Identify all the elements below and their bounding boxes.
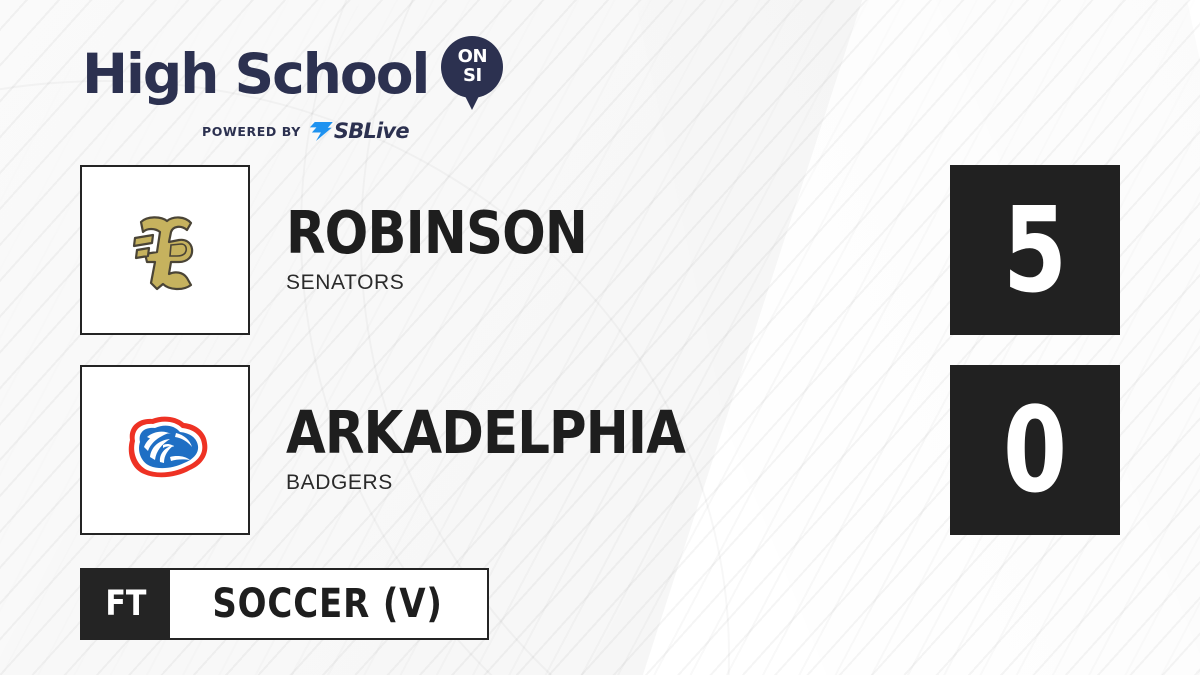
scoreboard-graphic: High School ON SI POWERED BY SBLive [0,0,1200,675]
team-info: ARKADELPHIA BADGERS [286,405,745,495]
team-row: ARKADELPHIA BADGERS [80,365,745,535]
sblive-lower: ive [376,119,409,143]
sport-label: SOCCER (V) [212,581,442,627]
team-mascot: SENATORS [286,271,632,295]
brand-wordmark: High School [82,47,428,102]
pin-label-on: ON [458,49,487,66]
brand-logo-row: High School ON SI [82,36,503,112]
team-score: 0 [1003,391,1067,509]
team-info: ROBINSON SENATORS [286,205,632,295]
pin-label-si: SI [463,68,482,85]
team-score-box: 0 [950,365,1120,535]
team-name: ROBINSON [286,205,587,260]
team-row: ROBINSON SENATORS [80,165,632,335]
team-score-box: 5 [950,165,1120,335]
team-logo-card [80,165,250,335]
brand-header: High School ON SI POWERED BY SBLive [82,36,503,143]
status-code-badge: FT [82,570,170,638]
status-code-label: FT [105,584,146,624]
arkadelphia-badger-head-logo-icon [100,385,230,515]
robinson-blackletter-r-logo-icon [105,190,225,310]
powered-by-row: POWERED BY SBLive [202,119,503,143]
sblive-logo: SBLive [309,119,409,143]
game-status-bar: FT SOCCER (V) [80,568,489,640]
team-mascot: BADGERS [286,471,745,495]
powered-by-label: POWERED BY [202,124,301,139]
sport-label-panel: SOCCER (V) [170,570,487,638]
sblive-s-mark-icon [307,122,333,141]
team-score: 5 [1003,191,1067,309]
sblive-wordmark: SBLive [334,119,409,143]
sblive-upper: SBL [334,119,376,143]
team-name: ARKADELPHIA [286,405,685,460]
on-si-pin-icon: ON SI [441,36,503,112]
team-logo-card [80,365,250,535]
